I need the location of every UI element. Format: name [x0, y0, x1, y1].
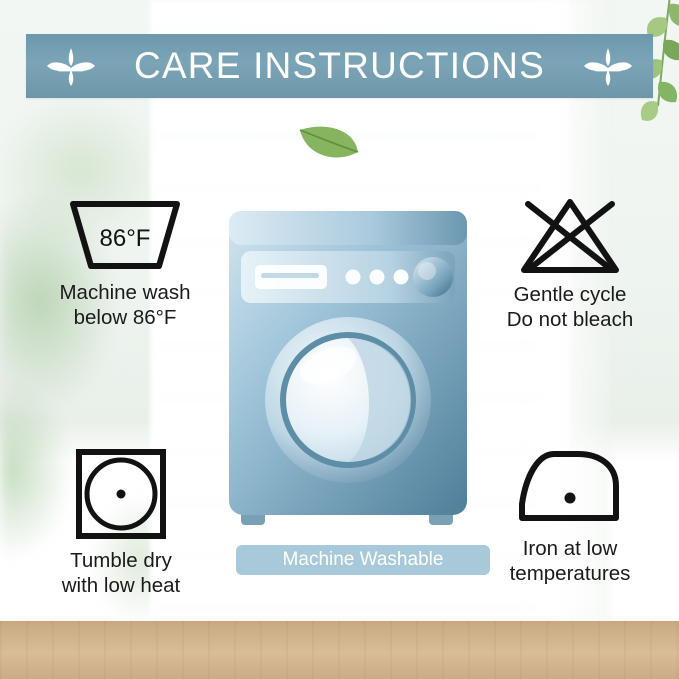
- wash-tub-icon: 86°F: [65, 196, 185, 274]
- header-banner: CARE INSTRUCTIONS: [26, 34, 653, 98]
- tumble-dry-square-icon: [69, 446, 173, 542]
- wooden-table-grain: [0, 621, 679, 679]
- care-instructions-graphic: CARE INSTRUCTIONS: [0, 0, 679, 679]
- iron-icon: [512, 446, 628, 530]
- machine-washable-badge: Machine Washable: [236, 545, 490, 575]
- instruction-tumble-dry: Tumble dry with low heat: [18, 446, 224, 598]
- instruction-gentle-cycle: Gentle cycle Do not bleach: [470, 196, 670, 332]
- page-title: CARE INSTRUCTIONS: [134, 45, 545, 87]
- instruction-label: Iron at low temperatures: [470, 536, 670, 586]
- wash-temperature-value: 86°F: [100, 225, 151, 252]
- machine-washable-label: Machine Washable: [283, 549, 444, 571]
- instruction-machine-wash: 86°F Machine wash below 86°F: [18, 196, 232, 330]
- instruction-label: Gentle cycle Do not bleach: [470, 282, 670, 332]
- crossed-triangle-bleach-icon: [516, 196, 624, 276]
- instruction-label: Tumble dry with low heat: [18, 548, 224, 598]
- fleur-de-lis-icon-right: [581, 44, 635, 88]
- instruction-iron-low: Iron at low temperatures: [470, 446, 670, 586]
- instruction-label: Machine wash below 86°F: [18, 280, 232, 330]
- washing-machine-icon: [225, 207, 471, 537]
- fleur-de-lis-icon-left: [44, 44, 98, 88]
